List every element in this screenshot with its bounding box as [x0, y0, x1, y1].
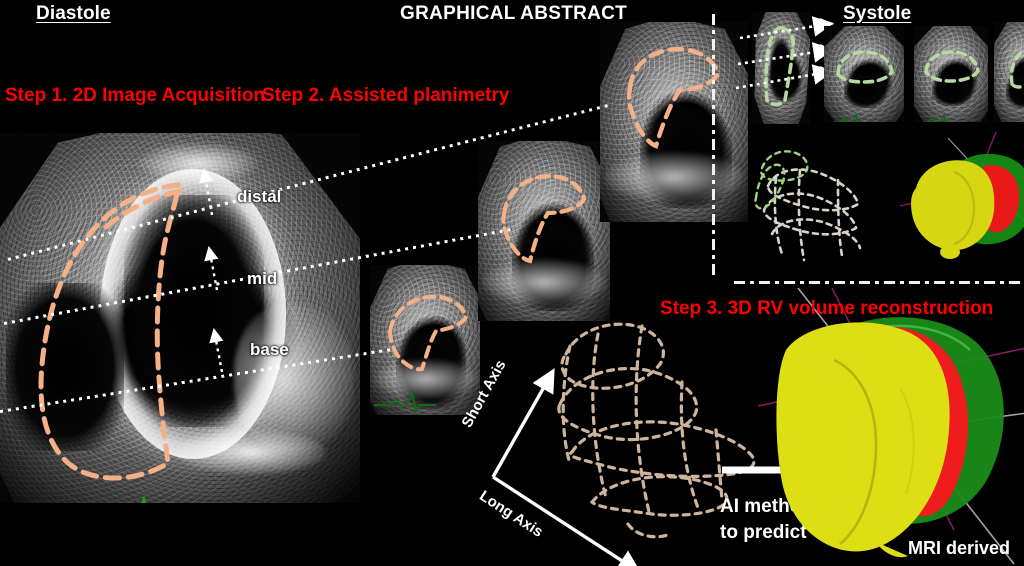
ecg-trace-systole-2	[916, 110, 966, 122]
ecg-trace-systole-1	[828, 110, 878, 122]
systole-header-label: Systole	[843, 3, 911, 25]
systole-short-axis-panel-3	[994, 22, 1024, 122]
ecg-trace-small	[374, 385, 444, 415]
horizontal-separator	[734, 281, 1024, 284]
step-3-label: Step 3. 3D RV volume reconstruction	[660, 298, 993, 320]
ecg-trace-diastole	[0, 488, 198, 503]
vertical-separator	[712, 14, 715, 280]
systole-short-axis-panel-1	[824, 26, 904, 122]
mri-derived-label: MRI derived	[908, 538, 1010, 559]
systole-contour-mesh	[742, 138, 902, 278]
step-1-label: Step 1. 2D Image Acquisition	[5, 85, 265, 107]
systole-short-axis-contour-2	[914, 26, 988, 122]
segment-label-base: base	[250, 340, 289, 360]
segment-label-mid: mid	[247, 269, 277, 289]
figure-title: GRAPHICAL ABSTRACT	[400, 3, 627, 25]
systole-short-axis-contour-1	[824, 26, 904, 122]
systole-short-axis-contour-3	[994, 22, 1024, 122]
systole-3d-volume-render	[892, 132, 1024, 272]
diastole-header-label: Diastole	[36, 3, 111, 25]
segment-label-distal: distal	[237, 187, 281, 207]
graphical-abstract-figure: Short Axis Long Axis AI method to predic…	[0, 0, 1024, 566]
step-2-label: Step 2. Assisted planimetry	[262, 85, 509, 107]
systole-short-axis-panel-2	[914, 26, 988, 122]
diastole-3d-volume-render	[758, 288, 1024, 566]
